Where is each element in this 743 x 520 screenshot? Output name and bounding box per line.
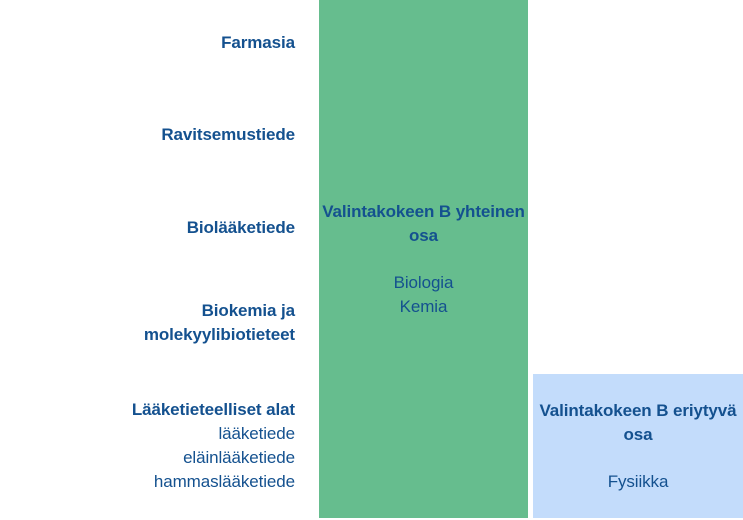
column-common-part (319, 0, 528, 518)
programme-title: Lääketieteelliset alat (0, 398, 295, 422)
programme-item-biolaaketiede: Biolääketiede (0, 216, 295, 240)
specific-part-heading: Valintakokeen B eriytyvä osa (533, 399, 743, 447)
specific-part-subjects: Fysiikka (533, 470, 743, 494)
programme-item-laaketieteelliset-alat: Lääketieteelliset alat lääketiede eläinl… (0, 398, 295, 494)
programme-title: Biokemia ja molekyylibiotieteet (0, 299, 295, 347)
programme-title: Farmasia (0, 31, 295, 55)
programme-item-farmasia: Farmasia (0, 31, 295, 55)
programme-subitems: lääketiede eläinlääketiede hammaslääketi… (0, 422, 295, 494)
exam-structure-diagram: Valintakokeen B yhteinen osa Biologia Ke… (0, 0, 743, 520)
programme-title: Biolääketiede (0, 216, 295, 240)
common-part-subjects: Biologia Kemia (319, 271, 528, 319)
common-part-heading: Valintakokeen B yhteinen osa (319, 200, 528, 248)
programme-item-ravitsemustiede: Ravitsemustiede (0, 123, 295, 147)
programme-title: Ravitsemustiede (0, 123, 295, 147)
programme-label-list: Farmasia Ravitsemustiede Biolääketiede B… (0, 0, 295, 520)
programme-item-biokemia: Biokemia ja molekyylibiotieteet (0, 299, 295, 347)
